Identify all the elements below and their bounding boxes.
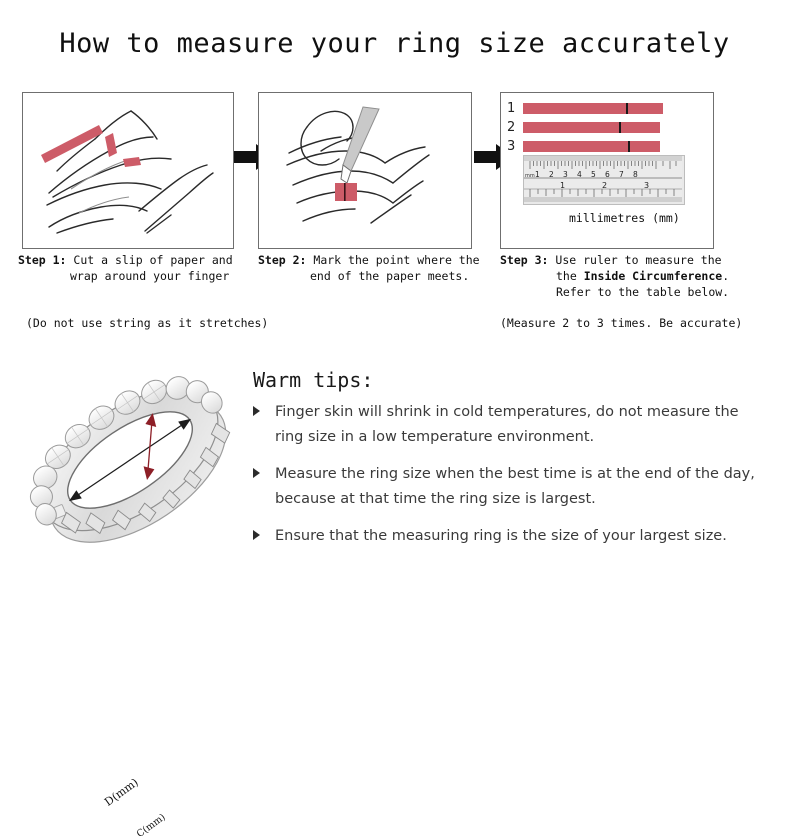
hand-with-paper-strip-drawing: [23, 93, 233, 248]
warm-tips-heading: Warm tips:: [253, 368, 373, 392]
paper-bar-2: [523, 122, 660, 133]
page-title: How to measure your ring size accurately: [0, 28, 789, 59]
bar-mark-1: [626, 103, 628, 114]
svg-text:4: 4: [577, 170, 582, 179]
bar-number-2: 2: [507, 120, 523, 135]
triangle-bullet-icon: [253, 468, 260, 478]
ring-diameter-label: D(mm): [102, 776, 141, 809]
svg-text:6: 6: [605, 170, 610, 179]
paper-bar-row-2: 2: [507, 120, 660, 135]
svg-text:7: 7: [619, 170, 624, 179]
step-1-illustration-panel: [22, 92, 234, 249]
svg-text:1: 1: [535, 170, 540, 179]
ring-size-guide-page: How to measure your ring size accurately: [0, 0, 789, 606]
warm-tip-item-3: Ensure that the measuring ring is the si…: [253, 524, 763, 549]
triangle-bullet-icon: [253, 530, 260, 540]
step-2-illustration-panel: [258, 92, 472, 249]
step-3-line1: Use ruler to measure the: [555, 253, 721, 267]
hand-marking-paper-drawing: [259, 93, 471, 248]
bar-mark-2: [619, 122, 621, 133]
warm-tip-item-1: Finger skin will shrink in cold temperat…: [253, 400, 763, 450]
step-3-caption: Step 3: Use ruler to measure the the Ins…: [500, 252, 760, 300]
step-3-line3: Refer to the table below.: [500, 284, 760, 300]
step-1-note: (Do not use string as it stretches): [26, 316, 268, 330]
paper-bar-1: [523, 103, 663, 114]
svg-text:mm: mm: [525, 173, 535, 179]
ring-circumference-label: C(mm): [135, 812, 168, 840]
step-1-line2: wrap around your finger: [18, 268, 258, 284]
step-3-inside-circumference: Inside Circumference: [584, 269, 722, 283]
bar-mark-3: [628, 141, 630, 152]
step-3-note: (Measure 2 to 3 times. Be accurate): [500, 316, 742, 330]
warm-tip-text-2: Measure the ring size when the best time…: [275, 466, 755, 507]
step-3-line2-wrap: the Inside Circumference.: [500, 268, 760, 284]
step-2-line2: end of the paper meets.: [258, 268, 498, 284]
ruler-scale-svg: 123 456 78 mm 123: [524, 156, 682, 202]
warm-tip-item-2: Measure the ring size when the best time…: [253, 462, 763, 512]
step-3-line2-prefix: the: [556, 269, 584, 283]
paper-strip-shape: [41, 125, 141, 167]
ring-illustration: D(mm) C(mm): [18, 352, 250, 567]
bar-number-3: 3: [507, 139, 523, 154]
step-3-illustration-panel: 1 2 3: [500, 92, 714, 249]
warm-tip-text-1: Finger skin will shrink in cold temperat…: [275, 404, 739, 445]
step-1-label: Step 1:: [18, 253, 66, 267]
svg-text:8: 8: [633, 170, 638, 179]
ruler-graphic: 123 456 78 mm 123: [523, 155, 685, 205]
step-1-line1: Cut a slip of paper and: [73, 253, 232, 267]
warm-tips-list: Finger skin will shrink in cold temperat…: [253, 400, 763, 561]
step-3-line2-suffix: .: [722, 269, 729, 283]
triangle-bullet-icon: [253, 406, 260, 416]
marked-paper-strip-shape: [335, 183, 357, 201]
paper-bar-row-3: 3: [507, 139, 660, 154]
svg-text:2: 2: [602, 181, 607, 190]
bar-number-1: 1: [507, 101, 523, 116]
step-3-label: Step 3:: [500, 253, 548, 267]
step-1-caption: Step 1: Cut a slip of paper and wrap aro…: [18, 252, 258, 284]
warm-tip-text-3: Ensure that the measuring ring is the si…: [275, 528, 727, 544]
paper-bar-3: [523, 141, 660, 152]
svg-text:3: 3: [644, 181, 649, 190]
step-2-caption: Step 2: Mark the point where the end of …: [258, 252, 498, 284]
eternity-ring-drawing: [18, 352, 250, 567]
ruler-unit-caption: millimetres (mm): [569, 211, 680, 225]
svg-text:2: 2: [549, 170, 554, 179]
paper-bar-row-1: 1: [507, 101, 663, 116]
svg-text:3: 3: [563, 170, 568, 179]
step-2-line1: Mark the point where the: [313, 253, 479, 267]
svg-text:1: 1: [560, 181, 565, 190]
svg-text:5: 5: [591, 170, 596, 179]
step-2-label: Step 2:: [258, 253, 306, 267]
